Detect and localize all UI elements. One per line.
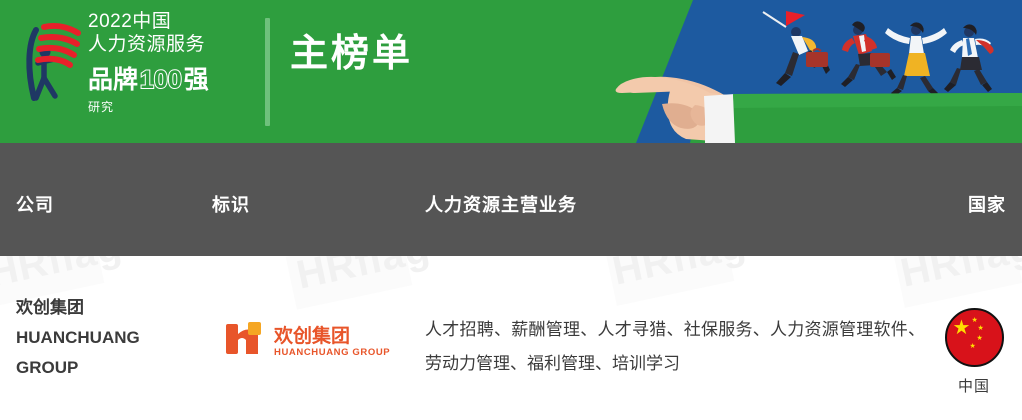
- headline-line-2: 人力资源服务: [88, 33, 258, 57]
- table-row[interactable]: 欢创集团 HUANCHUANG GROUP 欢创集团 HUANCHUANG GR…: [0, 256, 1022, 420]
- banner-headline: 2022中国 人力资源服务 品牌 100 强 研究: [88, 10, 258, 134]
- flag-star-small: ★: [977, 335, 983, 342]
- china-flag-circle: ★ ★ ★ ★ ★: [945, 308, 1004, 367]
- column-header-company: 公司: [16, 191, 54, 217]
- flag-star-small: ★: [972, 317, 978, 324]
- headline-brand-word: 品牌: [88, 60, 138, 96]
- column-header-logo: 标识: [212, 191, 250, 217]
- headline-number: 100: [140, 66, 182, 95]
- banner-divider: [265, 18, 270, 126]
- cell-business: 人才招聘、薪酬管理、人才寻猎、社保服务、人力资源管理软件、劳动力管理、福利管理、…: [425, 313, 925, 381]
- cell-company: 欢创集团 HUANCHUANG GROUP: [16, 293, 196, 383]
- headline-line-1: 2022中国: [88, 10, 258, 33]
- page-title: 主榜单: [290, 22, 413, 77]
- column-header-country: 国家: [968, 191, 1006, 217]
- flag-star-large: ★: [953, 318, 971, 338]
- table-body: HRflag HRflag HRflag HRflag 欢创集团 HUANCHU…: [0, 256, 1022, 420]
- logo-text-en: HUANCHUANG GROUP: [274, 347, 390, 358]
- company-name-cn: 欢创集团: [16, 293, 196, 323]
- table-header: 公司 标识 人力资源主营业务 国家: [0, 143, 1022, 256]
- company-name-en-line2: GROUP: [16, 353, 196, 383]
- headline-line-3: 品牌 100 强: [88, 60, 258, 96]
- flag-star-small: ★: [978, 325, 984, 332]
- cell-country: ★ ★ ★ ★ ★ 中国: [940, 308, 1008, 396]
- huanchuang-group-logo: 欢创集团 HUANCHUANG GROUP: [224, 320, 394, 358]
- hrflag-runner-flag-logo: [14, 14, 86, 114]
- flag-star-small: ★: [970, 343, 976, 350]
- logo-text-cn: 欢创集团: [273, 324, 350, 347]
- headline-line-4: 研究: [88, 98, 258, 115]
- hrflag-ranking-page: 2022中国 人力资源服务 品牌 100 强 研究 主榜单: [0, 0, 1022, 420]
- page-banner: 2022中国 人力资源服务 品牌 100 强 研究 主榜单: [0, 0, 1022, 143]
- headline-suffix: 强: [184, 60, 209, 96]
- country-label: 中国: [940, 375, 1008, 396]
- company-name-en-line1: HUANCHUANG: [16, 323, 196, 353]
- banner-illustration: [600, 0, 1022, 143]
- column-header-business: 人力资源主营业务: [425, 191, 577, 217]
